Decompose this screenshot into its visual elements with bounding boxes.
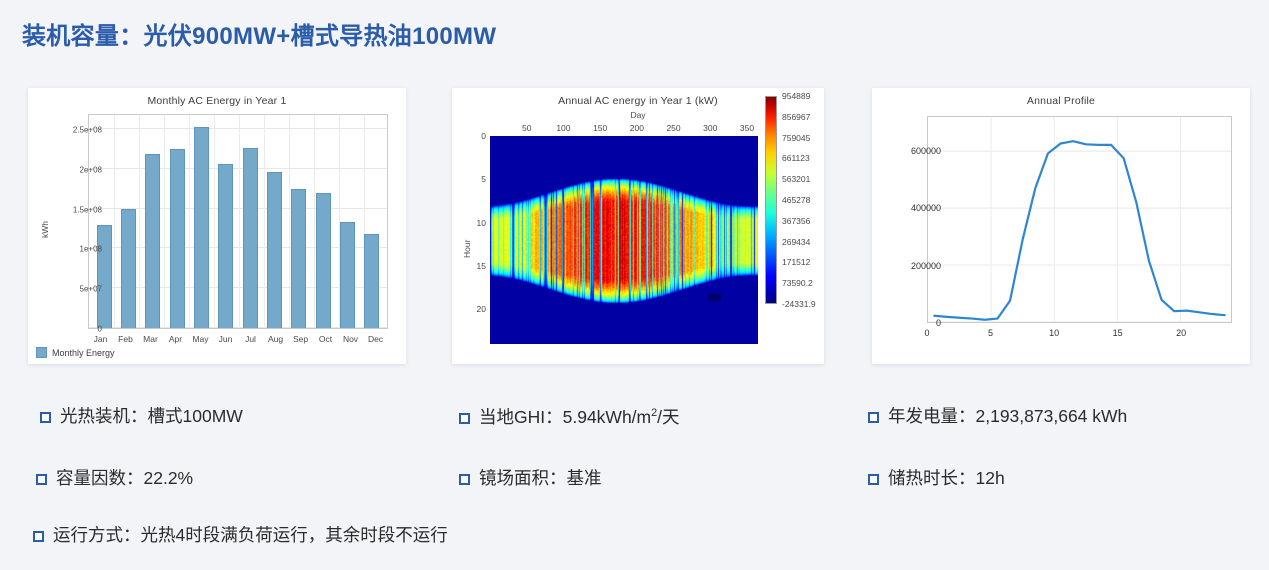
heatmap-x-tick: 200 xyxy=(630,123,644,133)
heatmap-y-tick: 5 xyxy=(474,174,486,184)
bar-chart: Monthly AC Energy in Year 1 kWh 05e+071e… xyxy=(28,88,406,364)
bar-chart-plot-area xyxy=(88,114,388,329)
x-tick-label-jan: Jan xyxy=(94,334,108,344)
x-tick-label-apr: Apr xyxy=(169,334,182,344)
bullet-text: 当地GHI：5.94kWh/m2/天 xyxy=(479,408,680,426)
bar-chart-legend: Monthly Energy xyxy=(36,347,115,358)
bar-dec xyxy=(364,234,379,328)
heatmap-x-tick: 350 xyxy=(740,123,754,133)
x-tick-label-dec: Dec xyxy=(368,334,383,344)
bullet-capacity-factor: 容量因数：22.2% xyxy=(36,470,193,488)
bar-oct xyxy=(316,193,331,328)
colorbar-tick: 269434 xyxy=(782,237,810,247)
bullet-text: 储热时长：12h xyxy=(888,470,1005,488)
bar-chart-bars xyxy=(89,115,387,328)
colorbar-tick: 73590.2 xyxy=(782,278,813,288)
bar-chart-y-axis-label: kWh xyxy=(40,221,50,238)
x-tick-label-nov: Nov xyxy=(343,334,358,344)
x-tick-label-mar: Mar xyxy=(143,334,158,344)
colorbar-tick: 954889 xyxy=(782,91,810,101)
bullet-square-icon xyxy=(36,474,47,485)
bullet-text: 运行方式：光热4时段满负荷运行，其余时段不运行 xyxy=(53,527,448,545)
page-title: 装机容量：光伏900MW+槽式导热油100MW xyxy=(22,16,496,51)
x-tick-label-oct: Oct xyxy=(319,334,332,344)
colorbar-tick: 563201 xyxy=(782,174,810,184)
bullet-storage-duration: 储热时长：12h xyxy=(868,470,1005,488)
x-tick-label-aug: Aug xyxy=(268,334,283,344)
heatmap-x-tick: 100 xyxy=(556,123,570,133)
heatmap-y-tick: 15 xyxy=(474,261,486,271)
heatmap-x-tick: 300 xyxy=(703,123,717,133)
colorbar-tick: 759045 xyxy=(782,133,810,143)
y-tick-label: 2e+08 xyxy=(80,165,102,174)
bar-apr xyxy=(170,149,185,328)
profile-y-tick: 200000 xyxy=(911,261,941,271)
bar-jul xyxy=(243,148,258,328)
bullet-text: 容量因数：22.2% xyxy=(56,470,193,488)
profile-y-tick: 600000 xyxy=(911,146,941,156)
x-tick-label-feb: Feb xyxy=(118,334,133,344)
heatmap-y-axis-label: Hour xyxy=(462,240,472,258)
x-tick-label-sep: Sep xyxy=(293,334,308,344)
y-tick-label: 2.5e+08 xyxy=(73,125,102,134)
heatmap-x-tick: 150 xyxy=(593,123,607,133)
bar-jan xyxy=(97,225,112,328)
bullet-local-ghi: 当地GHI：5.94kWh/m2/天 xyxy=(459,408,680,426)
bullet-mirror-field-area: 镜场面积：基准 xyxy=(459,470,602,488)
bullet-text-main: 当地GHI：5.94kWh/m xyxy=(479,407,651,427)
bullet-square-icon xyxy=(868,474,879,485)
slide-root: 装机容量：光伏900MW+槽式导热油100MW Monthly AC Energ… xyxy=(0,0,1269,570)
chart-card-monthly-energy: Monthly AC Energy in Year 1 kWh 05e+071e… xyxy=(28,88,406,364)
bar-nov xyxy=(340,222,355,328)
heatmap-x-tick: 50 xyxy=(522,123,531,133)
profile-x-tick: 15 xyxy=(1113,328,1123,338)
colorbar-tick: 367356 xyxy=(782,216,810,226)
profile-chart: Annual Profile 0200000400000600000 05101… xyxy=(872,88,1250,364)
bar-mar xyxy=(145,154,160,328)
profile-y-tick: 0 xyxy=(936,318,941,328)
profile-y-tick: 400000 xyxy=(911,203,941,213)
profile-x-tick: 0 xyxy=(924,328,929,338)
heatmap-y-tick: 20 xyxy=(474,304,486,314)
bullet-text: 光热装机：槽式100MW xyxy=(60,408,243,426)
bullet-text-tail: /天 xyxy=(657,407,679,427)
bullet-square-icon xyxy=(33,531,44,542)
x-tick-label-jun: Jun xyxy=(219,334,233,344)
bullet-text: 年发电量：2,193,873,664 kWh xyxy=(888,408,1127,426)
bar-may xyxy=(194,127,209,328)
profile-x-tick: 5 xyxy=(988,328,993,338)
profile-chart-title: Annual Profile xyxy=(872,88,1250,107)
y-tick-label: 1.5e+08 xyxy=(73,205,102,214)
x-tick-label-may: May xyxy=(192,334,208,344)
bullet-square-icon xyxy=(40,412,51,423)
bullet-solar-thermal-capacity: 光热装机：槽式100MW xyxy=(40,408,243,426)
heatmap-x-tick: 250 xyxy=(666,123,680,133)
y-tick-label: 5e+07 xyxy=(80,285,102,294)
bullet-text: 镜场面积：基准 xyxy=(479,470,602,488)
legend-swatch-monthly-energy xyxy=(36,347,47,358)
heatmap-chart: Annual AC energy in Year 1 (kW) Day Hour… xyxy=(452,88,824,364)
bullet-square-icon xyxy=(459,413,470,424)
bar-jun xyxy=(218,164,233,328)
colorbar-tick: 171512 xyxy=(782,257,810,267)
colorbar-tick: -24331.9 xyxy=(782,299,816,309)
chart-card-annual-heatmap: Annual AC energy in Year 1 (kW) Day Hour… xyxy=(452,88,824,364)
bar-feb xyxy=(121,209,136,328)
heatmap-canvas xyxy=(490,136,758,344)
heatmap-y-tick: 10 xyxy=(474,218,486,228)
colorbar-tick: 856967 xyxy=(782,112,810,122)
heatmap-y-tick: 0 xyxy=(474,131,486,141)
colorbar-tick: 661123 xyxy=(782,153,810,163)
legend-label-monthly-energy: Monthly Energy xyxy=(52,348,115,358)
profile-line-series xyxy=(934,141,1224,320)
bar-sep xyxy=(291,189,306,328)
y-tick-label: 0 xyxy=(98,325,102,334)
heatmap-plot-area xyxy=(490,136,758,344)
profile-line-svg xyxy=(928,117,1231,322)
bar-chart-title: Monthly AC Energy in Year 1 xyxy=(28,88,406,107)
chart-card-annual-profile: Annual Profile 0200000400000600000 05101… xyxy=(872,88,1250,364)
bar-aug xyxy=(267,172,282,328)
profile-plot-area xyxy=(927,116,1232,323)
bullet-square-icon xyxy=(868,412,879,423)
profile-x-tick: 10 xyxy=(1049,328,1059,338)
bullet-annual-generation: 年发电量：2,193,873,664 kWh xyxy=(868,408,1127,426)
heatmap-colorbar xyxy=(765,96,777,304)
bullet-operation-mode: 运行方式：光热4时段满负荷运行，其余时段不运行 xyxy=(33,527,448,545)
bullet-square-icon xyxy=(459,474,470,485)
profile-x-tick: 20 xyxy=(1176,328,1186,338)
x-tick-label-jul: Jul xyxy=(245,334,256,344)
y-tick-label: 1e+08 xyxy=(80,245,102,254)
colorbar-tick: 465278 xyxy=(782,195,810,205)
